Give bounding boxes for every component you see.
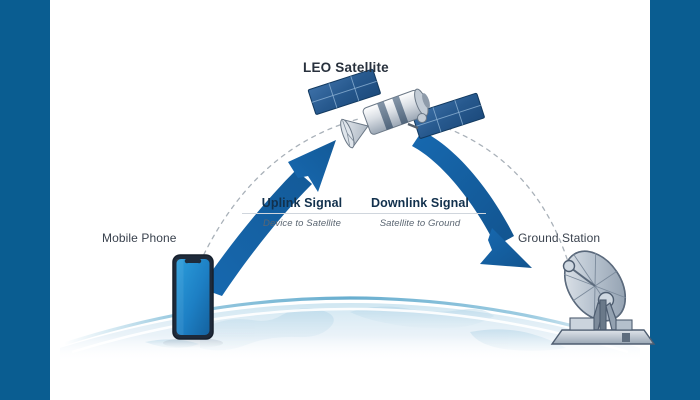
uplink-divider bbox=[242, 213, 362, 214]
uplink-heading: Uplink Signal bbox=[238, 196, 366, 213]
left-accent-bar bbox=[0, 0, 50, 400]
downlink-divider bbox=[354, 213, 486, 214]
node-label-mobile-phone: Mobile Phone bbox=[102, 231, 177, 245]
uplink-subtitle: Device to Satellite bbox=[238, 218, 366, 229]
right-accent-bar bbox=[650, 0, 700, 400]
node-label-leo-satellite: LEO Satellite bbox=[303, 60, 389, 75]
uplink-label-group: Uplink Signal Device to Satellite bbox=[238, 196, 366, 229]
diagram-root: LEO Satellite Mobile Phone Ground Statio… bbox=[0, 0, 700, 400]
downlink-label-group: Downlink Signal Satellite to Ground bbox=[350, 196, 490, 229]
diagram-canvas: LEO Satellite Mobile Phone Ground Statio… bbox=[50, 0, 650, 400]
downlink-heading: Downlink Signal bbox=[350, 196, 490, 213]
downlink-subtitle: Satellite to Ground bbox=[350, 218, 490, 229]
node-label-ground-station: Ground Station bbox=[518, 231, 600, 245]
